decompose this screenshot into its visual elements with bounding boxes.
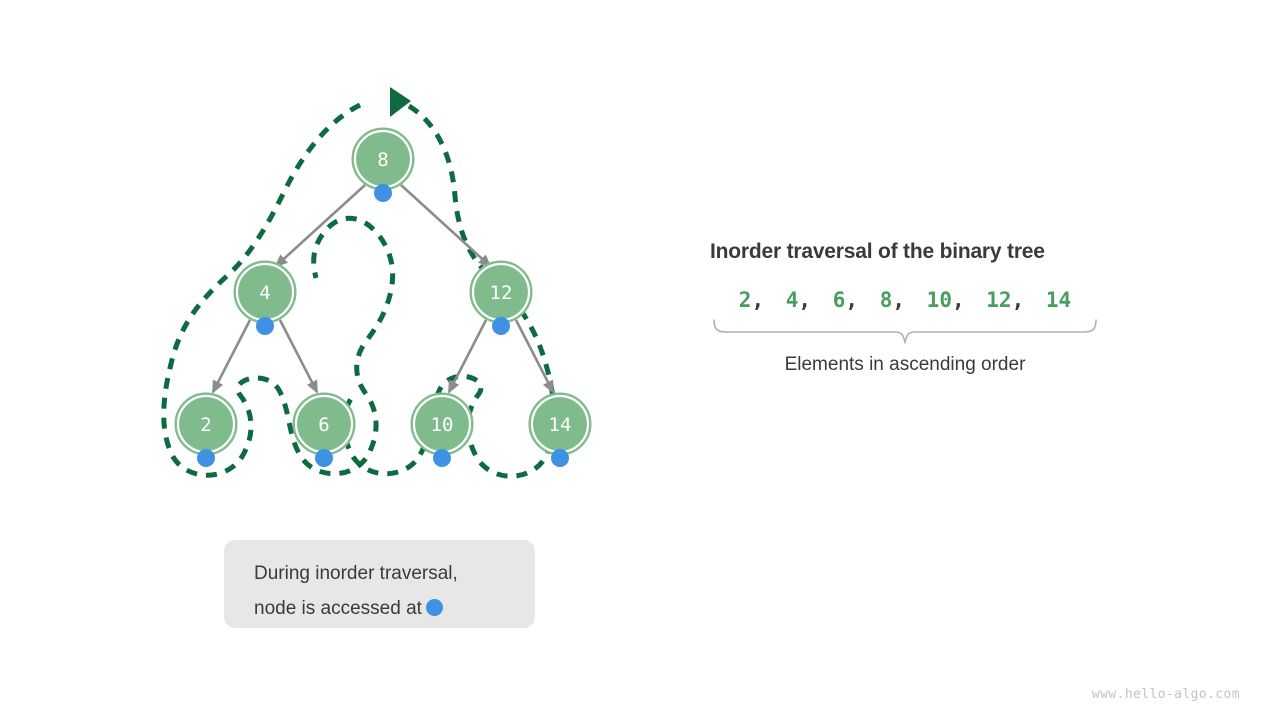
node-10-visit-dot [433,449,451,467]
sequence-caption: Elements in ascending order [710,354,1100,376]
sequence-item-4: 10, [927,288,974,312]
sequence-separator-3: , [892,288,905,312]
sequence-separator-2: , [845,288,858,312]
sequence-item-6: 14 [1046,288,1071,312]
node-2-label: 2 [200,414,211,436]
sequence-value-5: 12 [986,288,1011,312]
underbrace [710,318,1100,344]
sequence-value-6: 14 [1046,288,1071,312]
sequence-value-0: 2 [739,288,752,312]
sequence-item-0: 2, [739,288,773,312]
edge-8-12 [401,185,490,266]
node-2-visit-dot [197,449,215,467]
diagram-canvas: 8 4 12 2 6 [0,0,1280,720]
sequence-value-2: 6 [833,288,846,312]
tree-node-4[interactable]: 4 [234,261,296,335]
node-10-label: 10 [431,414,454,436]
caption-line-2-wrapper: node is accessed at [254,591,535,626]
sequence-separator-4: , [952,288,965,312]
sequence-item-3: 8, [880,288,914,312]
node-8-label: 8 [377,149,388,171]
tree-node-10[interactable]: 10 [411,393,473,467]
sequence-item-5: 12, [986,288,1033,312]
sequence-separator-5: , [1012,288,1025,312]
node-12-label: 12 [490,282,513,304]
sequence-item-1: 4, [786,288,820,312]
sequence-separator-1: , [798,288,811,312]
node-6-visit-dot [315,449,333,467]
node-8-visit-dot [374,184,392,202]
binary-tree-diagram: 8 4 12 2 6 [0,0,700,520]
footer-url: www.hello-algo.com [1092,687,1240,702]
node-4-label: 4 [259,282,270,304]
tree-node-6[interactable]: 6 [293,393,355,467]
edge-12-10 [449,320,486,392]
node-14-visit-dot [551,449,569,467]
inorder-sequence: 2, 4, 6, 8, 10, 12, 14 [710,288,1100,312]
node-6-label: 6 [318,414,329,436]
caption-line-1: During inorder traversal, [254,556,535,591]
sequence-value-1: 4 [786,288,799,312]
panel-title: Inorder traversal of the binary tree [710,240,1190,264]
caption-line-2: node is accessed at [254,598,422,619]
traversal-result-panel: Inorder traversal of the binary tree 2, … [710,240,1190,376]
start-play-marker [390,87,411,117]
visit-dot-legend-icon [426,599,443,616]
sequence-item-2: 6, [833,288,867,312]
tree-node-14[interactable]: 14 [529,393,591,467]
edge-8-4 [276,185,365,266]
edge-4-6 [280,320,317,392]
node-4-visit-dot [256,317,274,335]
info-caption-box: During inorder traversal, node is access… [224,540,535,628]
underbrace-shape [710,318,1100,344]
sequence-value-3: 8 [880,288,893,312]
sequence-separator-0: , [751,288,764,312]
node-12-visit-dot [492,317,510,335]
node-14-label: 14 [549,414,572,436]
tree-node-12[interactable]: 12 [470,261,532,335]
tree-node-8[interactable]: 8 [352,128,414,202]
tree-node-2[interactable]: 2 [175,393,237,467]
sequence-value-4: 10 [927,288,952,312]
